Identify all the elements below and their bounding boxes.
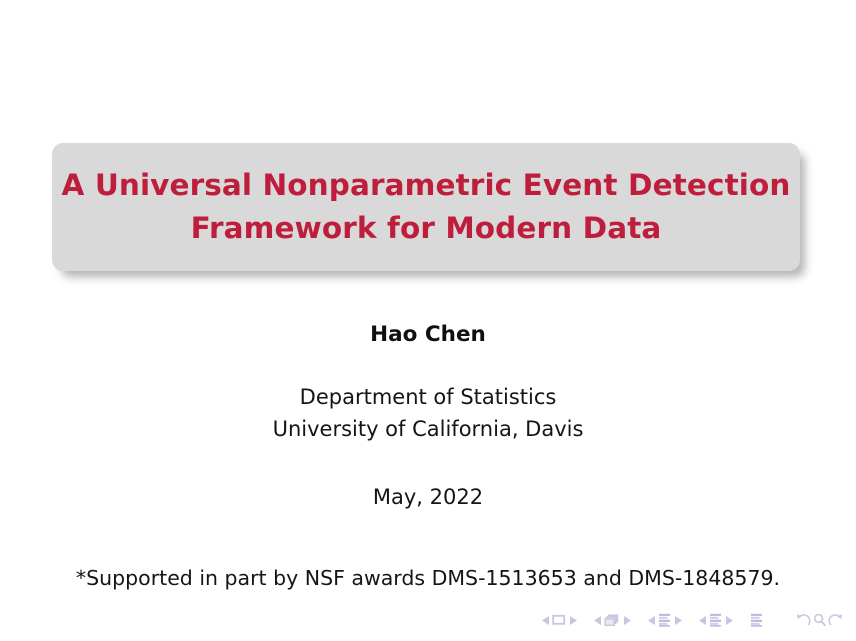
slide-icon[interactable]	[552, 614, 566, 626]
affiliation-line-2: University of California, Davis	[0, 413, 856, 445]
next-subsection-icon[interactable]	[673, 613, 683, 627]
previous-subsection-icon[interactable]	[646, 613, 656, 627]
next-slide-icon[interactable]	[568, 613, 578, 627]
section-navigation-group[interactable]	[697, 613, 734, 627]
previous-frame-icon[interactable]	[592, 613, 602, 627]
next-section-icon[interactable]	[724, 613, 734, 627]
presentation-date: May, 2022	[0, 485, 856, 509]
affiliation-line-1: Department of Statistics	[0, 381, 856, 413]
title-line-2: Framework for Modern Data	[191, 207, 662, 250]
next-frame-icon[interactable]	[622, 613, 632, 627]
presentation-group[interactable]	[748, 613, 765, 627]
section-icon[interactable]	[709, 613, 722, 627]
forward-arrow-icon[interactable]	[828, 613, 843, 627]
title-block: A Universal Nonparametric Event Detectio…	[52, 143, 800, 271]
author-name: Hao Chen	[0, 322, 856, 347]
presentation-icon[interactable]	[750, 613, 763, 627]
funding-footnote: *Supported in part by NSF awards DMS-151…	[0, 566, 856, 590]
subsection-navigation-group[interactable]	[646, 613, 683, 627]
subsection-icon[interactable]	[658, 613, 671, 627]
frame-navigation-group[interactable]	[592, 613, 632, 627]
search-icon[interactable]	[813, 613, 826, 627]
beamer-navigation-bar[interactable]	[540, 609, 844, 631]
slide-navigation-group[interactable]	[540, 613, 578, 627]
history-navigation-group[interactable]	[795, 613, 844, 627]
previous-slide-icon[interactable]	[540, 613, 550, 627]
presentation-slide: A Universal Nonparametric Event Detectio…	[0, 0, 856, 641]
frame-icon[interactable]	[604, 614, 620, 627]
affiliation: Department of Statistics University of C…	[0, 381, 856, 445]
back-arrow-icon[interactable]	[796, 613, 811, 627]
title-line-1: A Universal Nonparametric Event Detectio…	[62, 164, 791, 207]
previous-section-icon[interactable]	[697, 613, 707, 627]
